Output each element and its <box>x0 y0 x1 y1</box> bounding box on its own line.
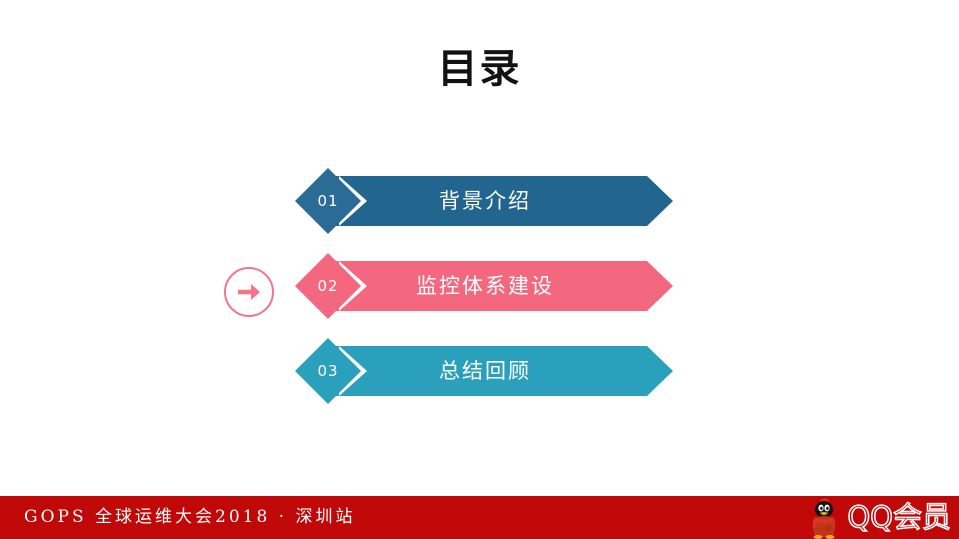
agenda-number: 01 <box>295 168 361 234</box>
agenda-item-03[interactable]: 总结回顾 03 <box>0 330 959 415</box>
agenda-item-02[interactable]: 监控体系建设 02 <box>0 245 959 330</box>
arrow-right-icon <box>226 269 272 315</box>
current-item-marker <box>224 267 274 317</box>
agenda-label: 背景介绍 <box>325 176 645 226</box>
agenda-bar-02[interactable]: 监控体系建设 02 <box>295 253 673 311</box>
agenda-number: 02 <box>295 253 361 319</box>
agenda-bar-01[interactable]: 背景介绍 01 <box>295 168 673 226</box>
slide-canvas: 目录 背景介绍 01 监控体系建设 <box>0 0 959 539</box>
brand-name: QQ会员 <box>845 496 951 539</box>
agenda-list: 背景介绍 01 监控体系建设 02 <box>0 160 959 400</box>
conference-name: GOPS 全球运维大会2018 · 深圳站 <box>24 496 355 539</box>
agenda-item-01[interactable]: 背景介绍 01 <box>0 160 959 245</box>
footer-bar: GOPS 全球运维大会2018 · 深圳站 <box>0 496 959 539</box>
agenda-label: 监控体系建设 <box>325 261 645 311</box>
agenda-bar-03[interactable]: 总结回顾 03 <box>295 338 673 396</box>
sponsor-brand: QQ会员 <box>803 496 951 539</box>
agenda-label: 总结回顾 <box>325 346 645 396</box>
agenda-number: 03 <box>295 338 361 404</box>
page-title: 目录 <box>0 44 959 94</box>
qq-penguin-icon <box>803 496 845 539</box>
